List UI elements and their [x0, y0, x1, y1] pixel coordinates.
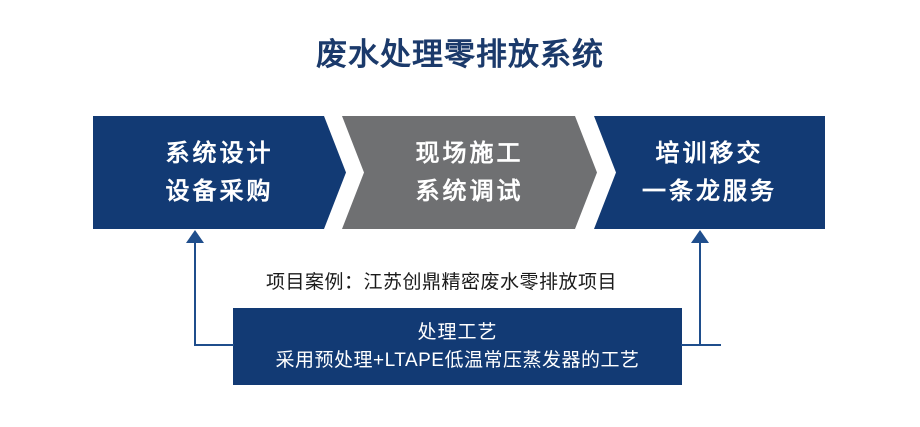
process-step-2-line1: 现场施工: [416, 135, 524, 172]
treatment-process-body: 采用预处理+LTAPE低温常压蒸发器的工艺: [276, 347, 640, 375]
process-step-2-line2: 系统调试: [416, 173, 524, 210]
process-step-3-line1: 培训移交: [656, 135, 764, 172]
project-case-caption: 项目案例：江苏创鼎精密废水零排放项目: [266, 267, 617, 294]
process-step-3[interactable]: 培训移交 一条龙服务: [594, 116, 825, 229]
connector-right-horizontal: [681, 344, 721, 346]
connector-left-arrowhead: [186, 230, 204, 243]
connector-left-vertical: [194, 243, 196, 346]
process-step-1-line2: 设备采购: [166, 173, 274, 210]
page-title: 废水处理零排放系统: [0, 36, 920, 73]
process-step-1-line1: 系统设计: [166, 135, 274, 172]
process-step-2[interactable]: 现场施工 系统调试: [342, 116, 597, 229]
treatment-process-box[interactable]: 处理工艺 采用预处理+LTAPE低温常压蒸发器的工艺: [233, 308, 682, 385]
connector-left-horizontal: [194, 344, 234, 346]
connector-right-vertical: [699, 243, 701, 346]
slide-canvas: 废水处理零排放系统 系统设计 设备采购 现场施工 系统调试 培训移交 一条龙服务…: [0, 0, 920, 427]
treatment-process-heading: 处理工艺: [417, 319, 497, 347]
process-step-3-line2: 一条龙服务: [642, 173, 777, 210]
connector-right-arrowhead: [691, 230, 709, 243]
process-step-1[interactable]: 系统设计 设备采购: [93, 116, 346, 229]
